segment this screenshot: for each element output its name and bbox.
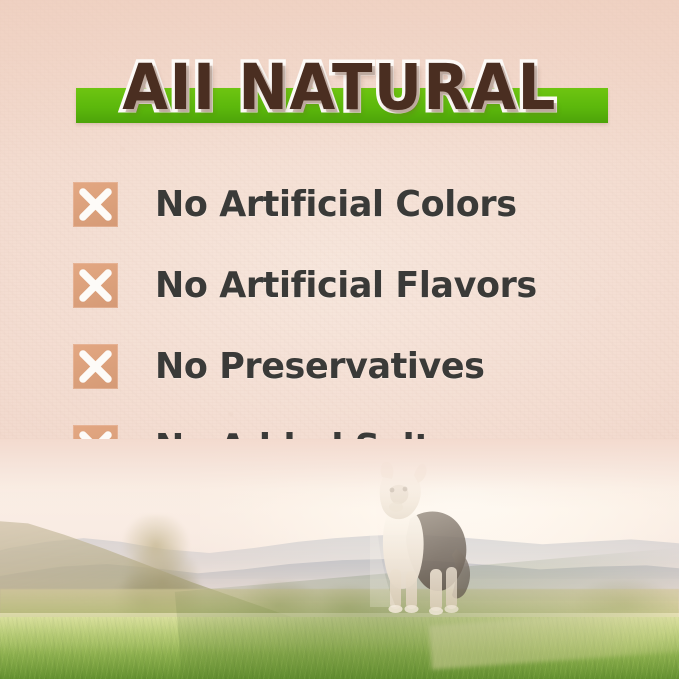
dog [352, 457, 480, 619]
x-mark-icon [73, 263, 118, 308]
x-mark-icon [73, 344, 118, 389]
list-item: No Artificial Colors [73, 182, 633, 227]
list-item: No Artificial Flavors [73, 263, 633, 308]
list-item: No Preservatives [73, 344, 633, 389]
product-feature-panel: AII NATURAL No Artificial Colors [0, 0, 679, 679]
landscape-photo [0, 439, 679, 679]
headline-title: AII NATURAL [20, 52, 658, 124]
feature-label: No Preservatives [155, 344, 485, 389]
feature-label: No Artificial Flavors [155, 263, 537, 308]
feature-label: No Artificial Colors [155, 182, 517, 227]
headline-banner: AII NATURAL [0, 52, 679, 128]
x-mark-icon [73, 182, 118, 227]
